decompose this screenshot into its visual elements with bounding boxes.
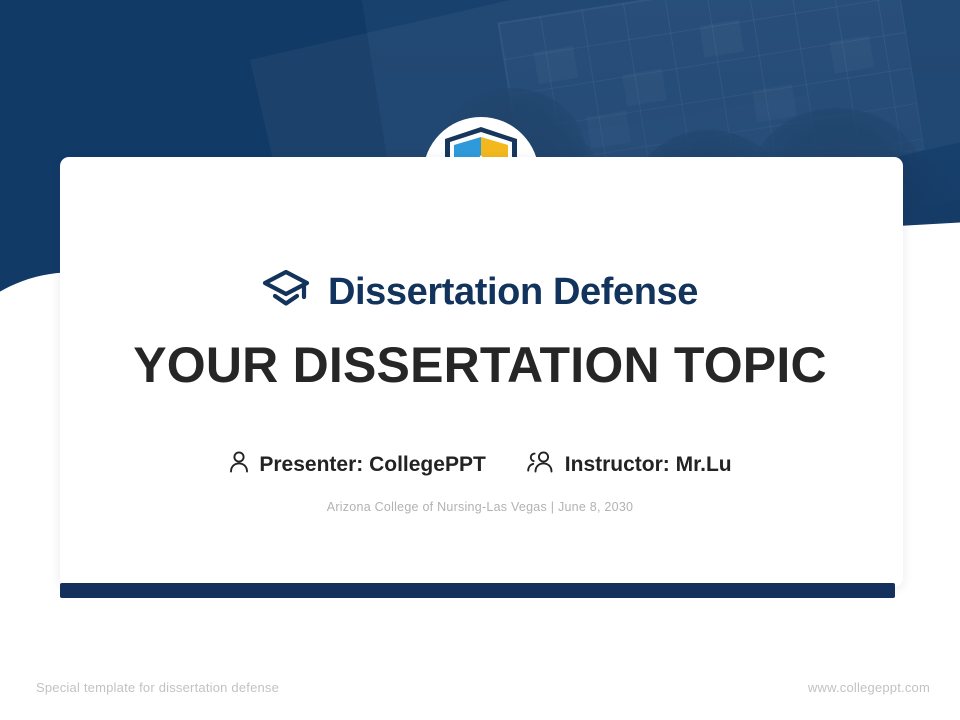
eyebrow-row: Dissertation Defense [0,268,960,315]
people-icon [526,450,556,479]
people-row: Presenter: CollegePPT Instructor: Mr.Lu [0,450,960,479]
eyebrow-label: Dissertation Defense [328,273,698,311]
slide-meta: Arizona College of Nursing-Las Vegas | J… [0,500,960,514]
presentation-slide: Dissertation Defense YOUR DISSERTATION T… [0,0,960,720]
instructor-item: Instructor: Mr.Lu [526,450,732,479]
person-icon [228,450,250,479]
graduation-cap-icon [262,268,310,315]
page-title: YOUR DISSERTATION TOPIC [0,338,960,392]
presenter-label: Presenter: CollegePPT [259,454,485,475]
instructor-label: Instructor: Mr.Lu [565,454,732,475]
footer-website-link[interactable]: www.collegeppt.com [808,680,930,695]
footer-left-text: Special template for dissertation defens… [36,680,279,695]
card-accent-bar [60,583,895,598]
presenter-item: Presenter: CollegePPT [228,450,485,479]
